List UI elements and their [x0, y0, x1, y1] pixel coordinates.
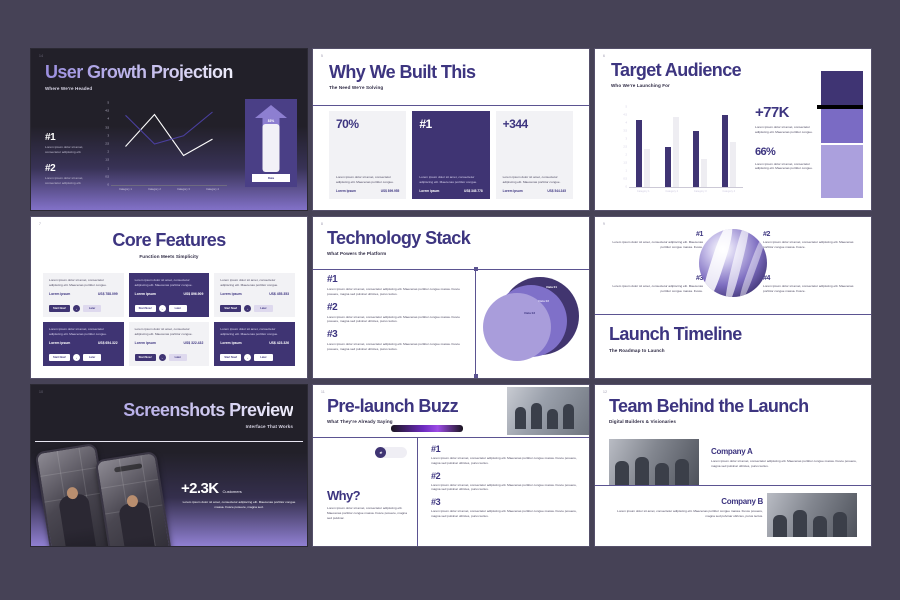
- feature-label: Lorem ipsum: [135, 341, 156, 345]
- item-hash: #3: [431, 498, 577, 507]
- y-tick: 4.5: [623, 114, 627, 117]
- feature-label: Lorem ipsum: [49, 341, 70, 345]
- quote-item: #1Lorem ipsum dolor sit amet, consectetu…: [431, 445, 577, 466]
- feature-body: Lorem ipsum dolor sit amet, consectetur …: [135, 278, 204, 288]
- feature-body: Lorem ipsum dolor sit amet, consectetur …: [220, 278, 289, 288]
- feature-price: US$ 654.322: [98, 341, 118, 345]
- page-title: Target Audience: [611, 61, 741, 79]
- item-hash: #4: [763, 275, 861, 282]
- feature-card-grid: Lorem ipsum dolor sit amet, consectetur …: [43, 273, 295, 366]
- stat-card[interactable]: +344Lorem ipsum dolor sit amet, consecte…: [496, 111, 573, 199]
- header-divider: [313, 269, 589, 270]
- item-body: Lorem ipsum dolor sit amet, consectetur …: [605, 240, 703, 250]
- bar-group: [629, 120, 658, 187]
- y-tick: 3: [626, 138, 627, 141]
- slide-target-audience[interactable]: 6 Target Audience Who We're Launching Fo…: [594, 48, 872, 211]
- stat-price: US$ 345.778: [464, 189, 483, 193]
- stat-body: Lorem ipsum dolor sit amet, consectetur …: [503, 175, 566, 185]
- feature-label: Lorem ipsum: [135, 292, 156, 296]
- y-tick: 1.5: [623, 162, 627, 165]
- stat-card[interactable]: 70%Lorem ipsum dolor sit amet, consectet…: [329, 111, 406, 199]
- y-tick: 3.5: [623, 130, 627, 133]
- x-axis-tick-labels: Category 1Category 2Category 3Category 4: [111, 188, 227, 191]
- slide-why-we-built-this[interactable]: 5 Why We Built This The Need We're Solvi…: [312, 48, 590, 211]
- block-light: [821, 145, 863, 198]
- feature-label: Lorem ipsum: [220, 292, 241, 296]
- bar-group: [686, 131, 715, 187]
- stat-body: Lorem ipsum dolor sit amet, consectetur …: [419, 175, 482, 185]
- page-title: Launch Timeline: [609, 325, 742, 343]
- stat-card[interactable]: #1Lorem ipsum dolor sit amet, consectetu…: [412, 111, 489, 199]
- company-name: Company A: [711, 447, 859, 456]
- later-button[interactable]: Later: [83, 305, 101, 312]
- y-tick: 5: [626, 106, 627, 109]
- start-now-button[interactable]: Start Now!: [220, 305, 241, 312]
- line-series-svg: [111, 103, 227, 185]
- x-axis-line: [629, 187, 743, 188]
- page-title: Pre-launch Buzz: [327, 397, 458, 415]
- timeline-quadrants: #1 Lorem ipsum dolor sit amet, consectet…: [595, 217, 871, 314]
- stat-body: Lorem ipsum dolor sit amet, consectetur …: [336, 175, 399, 185]
- why-title: Why?: [327, 489, 409, 502]
- item-body: Lorem ipsum dolor sit amet, consectetur …: [327, 287, 467, 297]
- page-subtitle: Interface That Works: [31, 424, 293, 429]
- feature-card[interactable]: Lorem ipsum dolor sit amet, consectetur …: [43, 322, 124, 366]
- company-body: Lorem ipsum dolor sit amet, consectetur …: [711, 459, 859, 469]
- item-body: Lorem ipsum dolor sit amet, consectetur …: [763, 284, 861, 294]
- item-body: Lorem ipsum dolor sit amet, consectetur …: [763, 240, 861, 250]
- y-tick: 1: [108, 167, 109, 170]
- slide-technology-stack[interactable]: 8 Technology Stack What Powers the Platf…: [312, 216, 590, 379]
- item-body: Lorem ipsum dolor sit amet, consectetur …: [605, 284, 703, 294]
- item-hash: #3: [327, 330, 467, 340]
- bar: [673, 117, 679, 187]
- y-tick: 4: [626, 122, 627, 125]
- feature-card[interactable]: Lorem ipsum dolor sit amet, consectetur …: [43, 273, 124, 317]
- timeline-item-4: #4 Lorem ipsum dolor sit amet, consectet…: [763, 275, 861, 294]
- bar: [693, 131, 699, 187]
- block-dark: [821, 71, 863, 106]
- slide-number: 10: [39, 390, 43, 394]
- feature-price: US$ 455.353: [269, 292, 289, 296]
- page-subtitle: Who We're Launching For: [611, 83, 741, 88]
- x-axis-tick-labels: Category 1Category 2Category 3Category 4: [629, 190, 743, 193]
- x-tick: Category 3: [686, 190, 715, 193]
- arrow-right-icon[interactable]: ›: [73, 305, 80, 312]
- slide-number: 5: [321, 54, 323, 58]
- feature-price: US$ 423.326: [269, 341, 289, 345]
- gauge-tube: [263, 124, 280, 172]
- y-tick: 0.5: [105, 175, 109, 178]
- circle-label: Data 02: [538, 299, 549, 303]
- toggle-switch[interactable]: ★: [375, 447, 407, 458]
- y-tick: 2: [108, 151, 109, 154]
- section-divider: [595, 485, 871, 486]
- feature-body: Lorem ipsum dolor sit amet, consectetur …: [49, 278, 118, 288]
- bar: [722, 115, 728, 187]
- quote-item: #2Lorem ipsum dolor sit amet, consectetu…: [431, 472, 577, 493]
- y-tick: 4.5: [105, 110, 109, 113]
- item-body: Lorem ipsum dolor sit amet, consectetur …: [45, 145, 93, 155]
- feature-price: US$ 896.909: [184, 292, 204, 296]
- item-body: Lorem ipsum dolor sit amet, consectetur …: [431, 509, 577, 519]
- y-tick: 5: [108, 102, 109, 105]
- slide-pre-launch-buzz[interactable]: 11 Pre-launch Buzz What They're Already …: [312, 384, 590, 547]
- slide-user-growth-projection[interactable]: 14 User Growth Projection Where We're He…: [30, 48, 308, 211]
- item-hash: #2: [763, 231, 861, 238]
- stack-item: #3Lorem ipsum dolor sit amet, consectetu…: [327, 330, 467, 352]
- stat-value: 70%: [336, 118, 399, 130]
- later-button[interactable]: Later: [254, 354, 272, 361]
- y-tick: 2.5: [105, 143, 109, 146]
- bar: [636, 120, 642, 187]
- stat-card-list: 70%Lorem ipsum dolor sit amet, consectet…: [329, 111, 573, 199]
- start-now-button[interactable]: Start Now!: [220, 354, 241, 361]
- x-tick: Category 2: [140, 188, 169, 191]
- stat-value: #1: [419, 118, 482, 130]
- why-body: Lorem ipsum dolor sit amet, consectetur …: [327, 506, 409, 520]
- slide-8-header: Pre-launch Buzz What They're Already Say…: [313, 385, 589, 437]
- feature-body: Lorem ipsum dolor sit amet, consectetur …: [135, 327, 204, 337]
- arrow-right-icon[interactable]: ›: [73, 354, 80, 361]
- slide-core-features[interactable]: 7 Core Features Function Meets Simplicit…: [30, 216, 308, 379]
- later-button[interactable]: Later: [254, 305, 272, 312]
- vertical-divider: [417, 437, 418, 546]
- item-hash: #1: [45, 133, 93, 143]
- page-subtitle: The Need We're Solving: [329, 85, 475, 90]
- x-tick: Category 1: [629, 190, 658, 193]
- stat-price: US$ 899.955: [381, 189, 400, 193]
- circle-label: Data 01: [546, 285, 557, 289]
- header-divider: [313, 437, 589, 438]
- page-subtitle: Function Meets Simplicity: [31, 254, 307, 259]
- bar: [701, 159, 707, 187]
- item-hash: #1: [431, 445, 577, 454]
- bar: [644, 149, 650, 187]
- later-button[interactable]: Later: [169, 305, 187, 312]
- feature-body: Lorem ipsum dolor sit amet, consectetur …: [220, 327, 289, 337]
- customer-count: +2.3K: [181, 481, 218, 496]
- item-body: Lorem ipsum dolor sit amet, consectetur …: [431, 456, 577, 466]
- y-tick: 0: [626, 186, 627, 189]
- x-tick: Category 3: [169, 188, 198, 191]
- later-button[interactable]: Later: [169, 354, 187, 361]
- stack-item: #1Lorem ipsum dolor sit amet, consectetu…: [327, 275, 467, 297]
- y-axis-tick-labels: 54.543.532.521.510.50: [615, 107, 628, 187]
- company-name: Company B: [611, 497, 763, 506]
- timeline-item-3: #3 Lorem ipsum dolor sit amet, consectet…: [605, 275, 703, 294]
- slide-launch-timeline[interactable]: 9 #1 Lorem ipsum dolor sit amet, consect…: [594, 216, 872, 379]
- page-subtitle: Where We're Headed: [45, 86, 233, 91]
- feature-card[interactable]: Lorem ipsum dolor sit amet, consectetur …: [129, 273, 210, 317]
- y-tick: 1.5: [105, 159, 109, 162]
- y-tick: 1: [626, 170, 627, 173]
- item-hash: #2: [327, 303, 467, 313]
- item-hash: #2: [431, 472, 577, 481]
- y-tick: 4: [108, 118, 109, 121]
- slide-number: 14: [39, 54, 43, 58]
- y-tick: 0: [108, 184, 109, 187]
- bar-chart: 54.543.532.521.510.50 Category 1Category…: [615, 107, 743, 197]
- item-hash: #1: [327, 275, 467, 285]
- arrow-right-icon[interactable]: ›: [159, 305, 166, 312]
- page-title: Core Features: [31, 231, 307, 249]
- stat-label: Lorem ipsum: [336, 189, 356, 193]
- highlight-bar: [817, 105, 863, 109]
- rocket-icon: ★: [375, 447, 386, 458]
- start-now-button[interactable]: Start Now!: [49, 305, 70, 312]
- gauge-percent: 83%: [268, 119, 274, 123]
- y-tick: 2: [626, 154, 627, 157]
- slide-number: 12: [603, 390, 607, 394]
- feature-card[interactable]: Lorem ipsum dolor sit amet, consectetur …: [214, 273, 295, 317]
- y-axis-tick-labels: 54.543.532.521.510.50: [97, 103, 110, 185]
- start-now-button[interactable]: Start Now!: [135, 305, 156, 312]
- circle-data-03: [483, 293, 551, 361]
- feature-body: Lorem ipsum dolor sit amet, consectetur …: [49, 327, 118, 337]
- stat-primary-body: Lorem ipsum dolor sit amet, consectetur …: [755, 125, 817, 135]
- data-button[interactable]: Data: [252, 174, 290, 182]
- stat-price: US$ 544.345: [547, 189, 566, 193]
- item-hash: #2: [45, 164, 93, 174]
- stack-item-list: #1Lorem ipsum dolor sit amet, consectetu…: [327, 275, 467, 358]
- feature-price: US$ 322.432: [184, 341, 204, 345]
- x-tick: Category 1: [111, 188, 140, 191]
- x-tick: Category 2: [658, 190, 687, 193]
- page-title: Screenshots Preview: [31, 401, 293, 419]
- bar-group: [658, 117, 687, 187]
- timeline-item-2: #2 Lorem ipsum dolor sit amet, consectet…: [763, 231, 861, 250]
- feature-label: Lorem ipsum: [49, 292, 70, 296]
- y-tick: 0.5: [623, 178, 627, 181]
- quote-item: #3Lorem ipsum dolor sit amet, consectetu…: [431, 498, 577, 519]
- start-now-button[interactable]: Start Now!: [135, 354, 156, 361]
- block-mid: [821, 108, 863, 143]
- item-body: Lorem ipsum dolor sit amet, consectetur …: [431, 483, 577, 493]
- page-title: Why We Built This: [329, 63, 475, 81]
- circle-label: Data 03: [524, 311, 535, 315]
- x-axis-line: [111, 185, 227, 186]
- feature-card[interactable]: Lorem ipsum dolor sit amet, consectetur …: [129, 322, 210, 366]
- page-title: Team Behind the Launch: [609, 397, 809, 415]
- page-subtitle: What Powers the Platform: [327, 251, 470, 256]
- y-tick: 3.5: [105, 126, 109, 129]
- stat-value: +344: [503, 118, 566, 130]
- feature-price: US$ 788.099: [98, 292, 118, 296]
- feature-card[interactable]: Lorem ipsum dolor sit amet, consectetur …: [214, 322, 295, 366]
- item-body: Lorem ipsum dolor sit amet, consectetur …: [45, 176, 93, 186]
- x-tick: Category 4: [198, 188, 227, 191]
- stack-item: #2Lorem ipsum dolor sit amet, consectetu…: [327, 303, 467, 325]
- start-now-button[interactable]: Start Now!: [49, 354, 70, 361]
- plot-area: [111, 103, 227, 185]
- y-tick: 3: [108, 134, 109, 137]
- item-body: Lorem ipsum dolor sit amet, consectetur …: [327, 315, 467, 325]
- item-body: Lorem ipsum dolor sit amet, consectetur …: [327, 342, 467, 352]
- header-divider: [313, 105, 589, 106]
- customer-body: Lorem ipsum dolor sit amet, consectetur …: [181, 500, 297, 510]
- team-photo: [507, 387, 589, 435]
- stat-label: Lorem ipsum: [419, 189, 439, 193]
- bar: [665, 147, 671, 187]
- bar: [730, 142, 736, 187]
- arrow-right-icon[interactable]: ›: [244, 354, 251, 361]
- quote-item-list: #1Lorem ipsum dolor sit amet, consectetu…: [431, 445, 577, 525]
- bar-series: [629, 107, 743, 187]
- company-body: Lorem ipsum dolor sit amet, consectetur …: [611, 509, 763, 519]
- sphere-graphic-icon: [699, 229, 767, 297]
- page-subtitle: What They're Already Saying: [327, 419, 458, 424]
- gauge-panel: 83% Data: [245, 99, 297, 187]
- nested-circles-chart: Data 01 Data 02 Data 03: [469, 273, 579, 368]
- company-b-photo: [767, 493, 857, 537]
- later-button[interactable]: Later: [83, 354, 101, 361]
- slide-number: 8: [321, 222, 323, 226]
- x-tick: Category 4: [715, 190, 744, 193]
- company-a-photo: [609, 439, 699, 485]
- page-subtitle: Digital Builders & Visionaries: [609, 419, 809, 424]
- stat-label: Lorem ipsum: [503, 189, 523, 193]
- customer-count-unit: Customers: [222, 489, 241, 494]
- stat-secondary-body: Lorem ipsum dolor sit amet, consectetur …: [755, 162, 817, 172]
- highlight-scribble: [391, 425, 463, 432]
- page-title: Technology Stack: [327, 229, 470, 247]
- arrow-right-icon[interactable]: ›: [244, 305, 251, 312]
- slide-deck-grid: 14 User Growth Projection Where We're He…: [30, 48, 874, 548]
- slide-number: 7: [39, 222, 41, 226]
- slide-number: 6: [603, 54, 605, 58]
- slide-screenshots-preview[interactable]: 10 Screenshots Preview Interface That Wo…: [30, 384, 308, 547]
- header-divider: [35, 441, 303, 442]
- bar-group: [715, 115, 744, 187]
- section-divider: [595, 314, 871, 315]
- item-hash: #1: [605, 231, 703, 238]
- item-hash: #3: [605, 275, 703, 282]
- arrow-right-icon[interactable]: ›: [159, 354, 166, 361]
- page-subtitle: The Roadmap to Launch: [609, 348, 742, 353]
- slide-team-behind-the-launch[interactable]: 12 Team Behind the Launch Digital Builde…: [594, 384, 872, 547]
- stacked-blocks: [821, 71, 863, 198]
- line-chart: 54.543.532.521.510.50 Category 1Category…: [97, 103, 227, 195]
- timeline-item-1: #1 Lorem ipsum dolor sit amet, consectet…: [605, 231, 703, 250]
- feature-label: Lorem ipsum: [220, 341, 241, 345]
- y-tick: 2.5: [623, 146, 627, 149]
- page-title: User Growth Projection: [45, 63, 233, 81]
